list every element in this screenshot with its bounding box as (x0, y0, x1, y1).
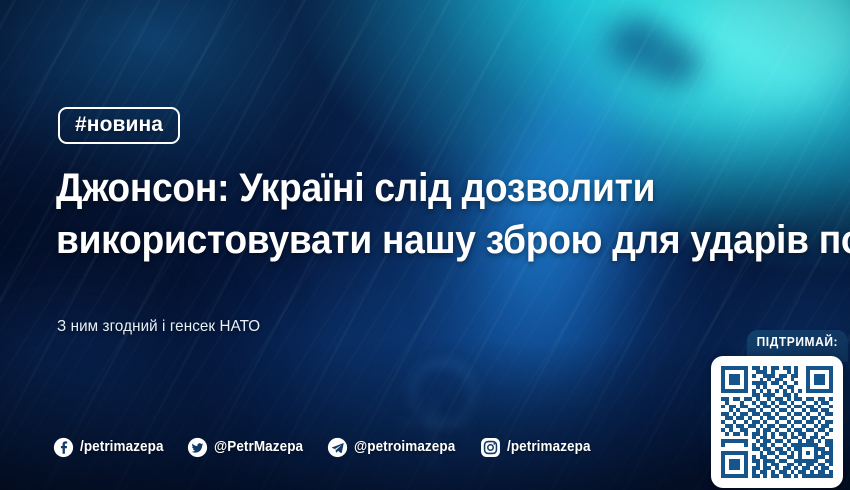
twitter-icon (187, 437, 208, 458)
social-handle-instagram: /petrimazepa (507, 439, 591, 455)
qr-module (829, 474, 833, 478)
social-link-twitter[interactable]: @PetrMazepa (187, 437, 310, 458)
telegram-icon (327, 437, 348, 458)
headline: Джонсон: Україні слід дозволити використ… (56, 162, 772, 266)
social-handle-telegram: @petroimazepa (354, 439, 455, 455)
qr-card[interactable] (711, 356, 843, 488)
facebook-icon (53, 437, 74, 458)
category-badge[interactable]: #новина (58, 107, 180, 144)
subtitle: З ним згодний і генсек НАТО (57, 318, 260, 336)
news-card: #новина Джонсон: Україні слід дозволити … (0, 0, 850, 490)
social-link-instagram[interactable]: /petrimazepa (480, 437, 597, 458)
headline-line-2: використовувати нашу зброю для ударів по… (56, 214, 772, 266)
headline-line-1: Джонсон: Україні слід дозволити (56, 162, 772, 214)
instagram-icon (480, 437, 501, 458)
social-bar: /petrimazepa @PetrMazepa @petroimazepa (53, 435, 596, 459)
support-qr-panel[interactable]: ПІДТРИМАЙ: (703, 330, 850, 490)
social-handle-facebook: /petrimazepa (80, 439, 164, 455)
card-content: #новина Джонсон: Україні слід дозволити … (0, 0, 850, 490)
qr-code[interactable] (721, 366, 833, 478)
social-handle-twitter: @PetrMazepa (214, 439, 303, 455)
social-link-facebook[interactable]: /petrimazepa (53, 437, 170, 458)
social-link-telegram[interactable]: @petroimazepa (327, 437, 463, 458)
